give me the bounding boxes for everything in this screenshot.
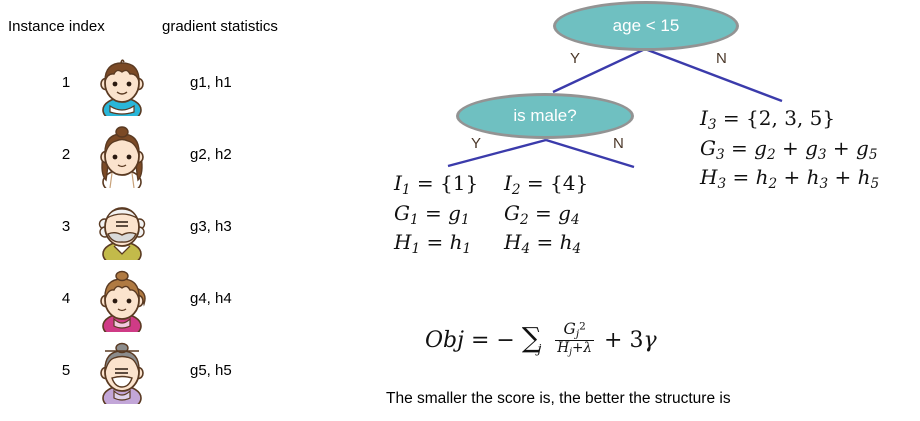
leaf-2-line-hessian: H4 = h4 <box>504 229 588 259</box>
fraction-denominator: Hj+λ <box>555 340 594 358</box>
tree-node-age[interactable]: age < 15 <box>553 1 739 51</box>
objective-formula: Obj = − ∑j Gj2 Hj+λ + 3γ <box>425 320 657 360</box>
tree-node-age-label: age < 15 <box>613 16 680 36</box>
table-row: 3 g3, h3 <box>0 194 340 264</box>
leaf-2-line-instances: I2 = {4} <box>504 170 588 200</box>
fraction-numerator: Gj2 <box>555 321 594 340</box>
column-header-instance-index: Instance index <box>8 18 105 35</box>
leaf-1-line-hessian: H1 = h1 <box>394 229 478 259</box>
edge-label-male-yes: Y <box>471 135 481 152</box>
row-index: 1 <box>56 74 76 91</box>
row-gradient-stats: g5, h5 <box>190 362 232 379</box>
caption-text: The smaller the score is, the better the… <box>386 390 731 408</box>
objective-fraction: Gj2 Hj+λ <box>555 321 594 358</box>
row-gradient-stats: g3, h3 <box>190 218 232 235</box>
edge-root-no <box>645 49 782 101</box>
objective-summation: ∑j <box>522 320 545 358</box>
old-man-avatar <box>92 198 152 260</box>
row-gradient-stats: g4, h4 <box>190 290 232 307</box>
leaf-1-line-instances: I1 = {1} <box>394 170 478 200</box>
leaf-2-line-gradient: G2 = g4 <box>504 200 588 230</box>
row-gradient-stats: g1, h1 <box>190 74 232 91</box>
row-gradient-stats: g2, h2 <box>190 146 232 163</box>
column-header-gradient-statistics: gradient statistics <box>162 18 278 35</box>
table-row: 5 g5, h5 <box>0 338 340 408</box>
table-row: 4 g4, h4 <box>0 266 340 336</box>
objective-equals: = <box>471 328 489 353</box>
sum-index: j <box>537 342 541 356</box>
objective-lhs: Obj <box>425 328 464 353</box>
edge-label-root-no: N <box>716 50 727 67</box>
row-index: 5 <box>56 362 76 379</box>
young-woman-avatar <box>92 270 152 332</box>
edge-label-male-no: N <box>613 135 624 152</box>
edge-root-yes <box>553 49 645 92</box>
objective-coefficient: 3 <box>629 328 643 353</box>
row-index: 3 <box>56 218 76 235</box>
edge-male-yes <box>448 140 546 166</box>
boy-avatar <box>92 54 152 116</box>
edge-label-root-yes: Y <box>570 50 580 67</box>
tree-node-is-male-label: is male? <box>513 106 576 126</box>
tree-node-is-male[interactable]: is male? <box>456 93 634 139</box>
leaf-3-line-hessian: H3 = h2 + h3 + h5 <box>700 164 879 194</box>
girl-avatar <box>92 126 152 188</box>
leaf-3-line-gradient: G3 = g2 + g3 + g5 <box>700 135 879 165</box>
old-woman-avatar <box>92 342 152 404</box>
objective-minus: − <box>496 328 514 353</box>
row-index: 4 <box>56 290 76 307</box>
row-index: 2 <box>56 146 76 163</box>
leaf-3-statistics: I3 = {2, 3, 5} G3 = g2 + g3 + g5 H3 = h2… <box>700 105 879 194</box>
leaf-1-statistics: I1 = {1} G1 = g1 H1 = h1 <box>394 170 478 259</box>
leaf-1-line-gradient: G1 = g1 <box>394 200 478 230</box>
objective-gamma: γ <box>643 328 656 353</box>
table-row: 2 g2, h2 <box>0 122 340 192</box>
diagram-canvas: Instance index gradient statistics 1 g1,… <box>0 0 920 421</box>
leaf-3-line-instances: I3 = {2, 3, 5} <box>700 105 879 135</box>
leaf-2-statistics: I2 = {4} G2 = g4 H4 = h4 <box>504 170 588 259</box>
objective-plus: + <box>604 328 622 353</box>
table-row: 1 g1, h1 <box>0 50 340 120</box>
